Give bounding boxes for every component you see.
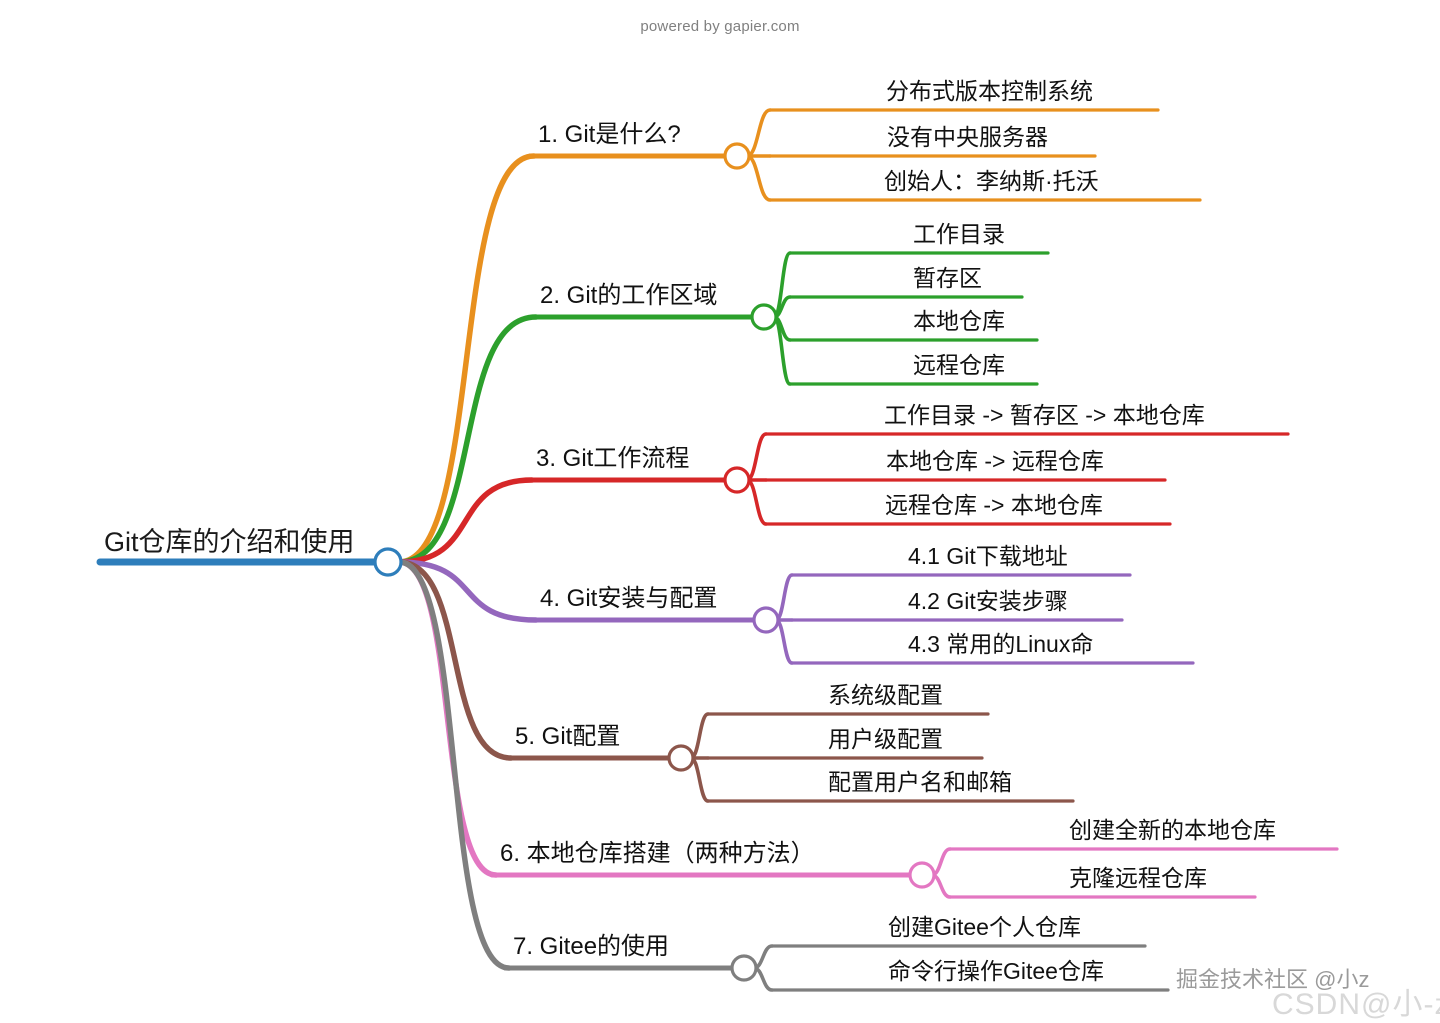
branch-node-circle-2[interactable]: [752, 305, 776, 329]
leaf-link-1-3: [747, 156, 770, 200]
leaf-label-4-1: 4.1 Git下载地址: [908, 545, 1068, 568]
branch-trunk-1: [399, 156, 534, 562]
leaf-label-3-3: 远程仓库 -> 本地仓库: [885, 494, 1103, 517]
leaf-label-2-4: 远程仓库: [913, 354, 1005, 377]
leaf-link-4-1: [776, 575, 792, 620]
root-node-label: Git仓库的介绍和使用: [104, 529, 355, 556]
leaf-label-7-1: 创建Gitee个人仓库: [888, 916, 1081, 939]
branch-label-6: 6. 本地仓库搭建（两种方法）: [500, 842, 815, 866]
leaf-link-5-3: [691, 758, 708, 801]
csdn-watermark: CSDN@小-z: [1272, 979, 1440, 1023]
branch-node-circle-7[interactable]: [732, 956, 756, 980]
leaf-link-3-1: [747, 434, 766, 480]
leaf-link-5-1: [691, 714, 708, 758]
branch-label-2: 2. Git的工作区域: [540, 284, 717, 308]
mindmap-canvas: powered by gapier.com Git仓库的介绍和使用1. Git是…: [0, 0, 1440, 1021]
branch-node-circle-6[interactable]: [910, 863, 934, 887]
leaf-link-4-3: [776, 620, 792, 663]
leaf-link-3-3: [747, 480, 766, 524]
leaf-label-1-3: 创始人：李纳斯·托沃: [884, 170, 1099, 193]
leaf-link-1-1: [747, 110, 770, 156]
leaf-label-4-3: 4.3 常用的Linux命: [908, 633, 1093, 656]
branch-label-1: 1. Git是什么?: [538, 123, 681, 147]
leaf-label-5-3: 配置用户名和邮箱: [828, 771, 1012, 794]
root-node-circle[interactable]: [375, 549, 401, 575]
branch-node-circle-4[interactable]: [754, 608, 778, 632]
leaf-label-6-2: 克隆远程仓库: [1069, 867, 1207, 890]
leaf-label-1-1: 分布式版本控制系统: [886, 80, 1093, 103]
branch-label-7: 7. Gitee的使用: [513, 935, 669, 959]
leaf-label-2-2: 暂存区: [913, 267, 982, 290]
leaf-label-1-2: 没有中央服务器: [887, 126, 1048, 149]
branch-trunk-5: [399, 562, 511, 758]
branch-trunk-7: [399, 562, 509, 968]
branch-node-circle-5[interactable]: [669, 746, 693, 770]
leaf-label-7-2: 命令行操作Gitee仓库: [888, 960, 1104, 983]
leaf-label-6-1: 创建全新的本地仓库: [1069, 819, 1276, 842]
leaf-label-2-1: 工作目录: [913, 223, 1005, 246]
leaf-label-3-2: 本地仓库 -> 远程仓库: [886, 450, 1104, 473]
leaf-label-5-2: 用户级配置: [828, 728, 943, 751]
branch-label-5: 5. Git配置: [515, 725, 620, 749]
leaf-label-3-1: 工作目录 -> 暂存区 -> 本地仓库: [884, 404, 1205, 427]
branch-node-circle-3[interactable]: [725, 468, 749, 492]
leaf-label-5-1: 系统级配置: [828, 684, 943, 707]
branch-node-circle-1[interactable]: [725, 144, 749, 168]
branch-label-3: 3. Git工作流程: [536, 447, 689, 471]
leaf-label-4-2: 4.2 Git安装步骤: [908, 590, 1068, 613]
branch-label-4: 4. Git安装与配置: [540, 587, 717, 611]
leaf-label-2-3: 本地仓库: [913, 310, 1005, 333]
mindmap-svg: [0, 0, 1440, 1021]
